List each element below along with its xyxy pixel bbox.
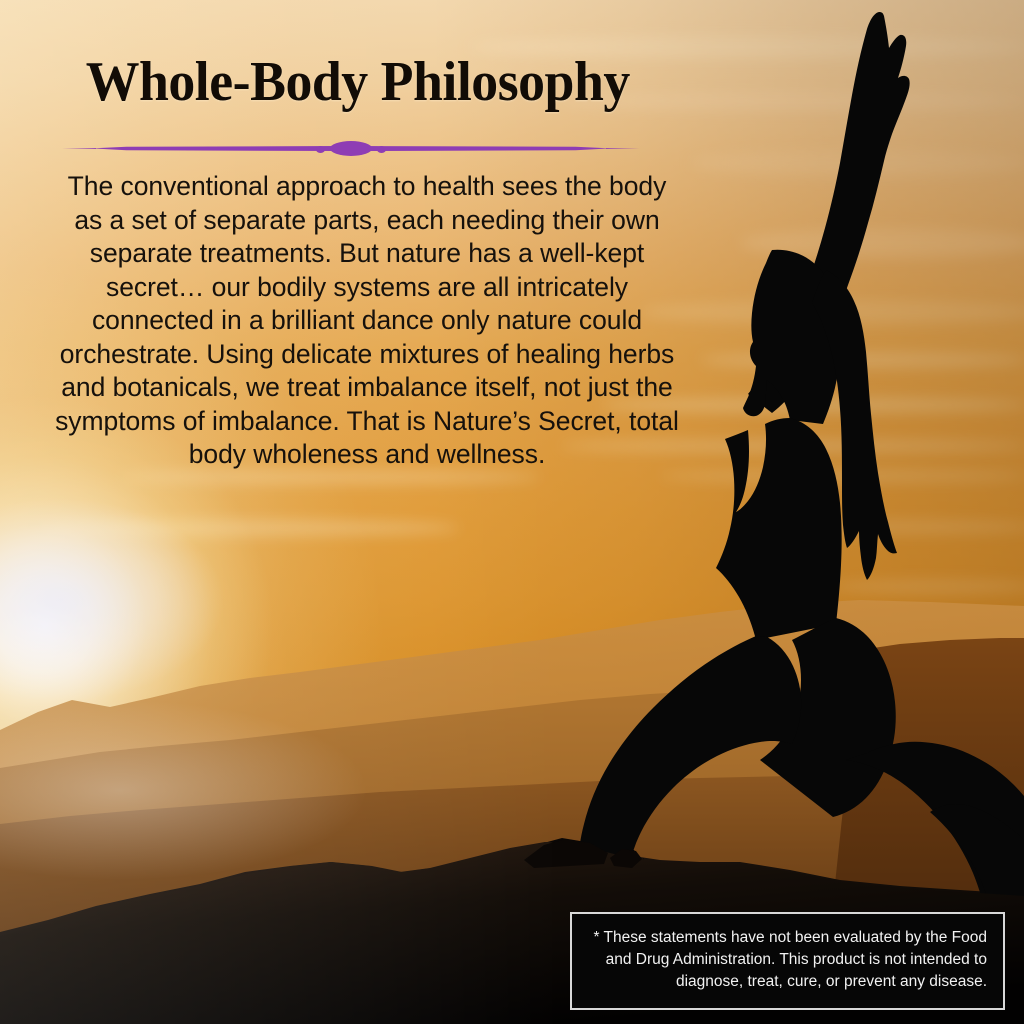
disclaimer-box: * These statements have not been evaluat… bbox=[570, 912, 1005, 1010]
poster-canvas: Whole-Body Philosophy The conventional a… bbox=[0, 0, 1024, 1024]
disclaimer-text: * These statements have not been evaluat… bbox=[588, 927, 987, 993]
divider-bar-left bbox=[92, 146, 338, 151]
divider-bar-right bbox=[364, 146, 610, 151]
page-title: Whole-Body Philosophy bbox=[64, 52, 652, 112]
divider-dot-left bbox=[316, 146, 325, 153]
ornamental-divider-icon bbox=[62, 137, 640, 159]
divider-hairline-left bbox=[62, 148, 96, 149]
divider-hairline-right bbox=[606, 148, 640, 149]
body-paragraph: The conventional approach to health sees… bbox=[52, 170, 682, 472]
